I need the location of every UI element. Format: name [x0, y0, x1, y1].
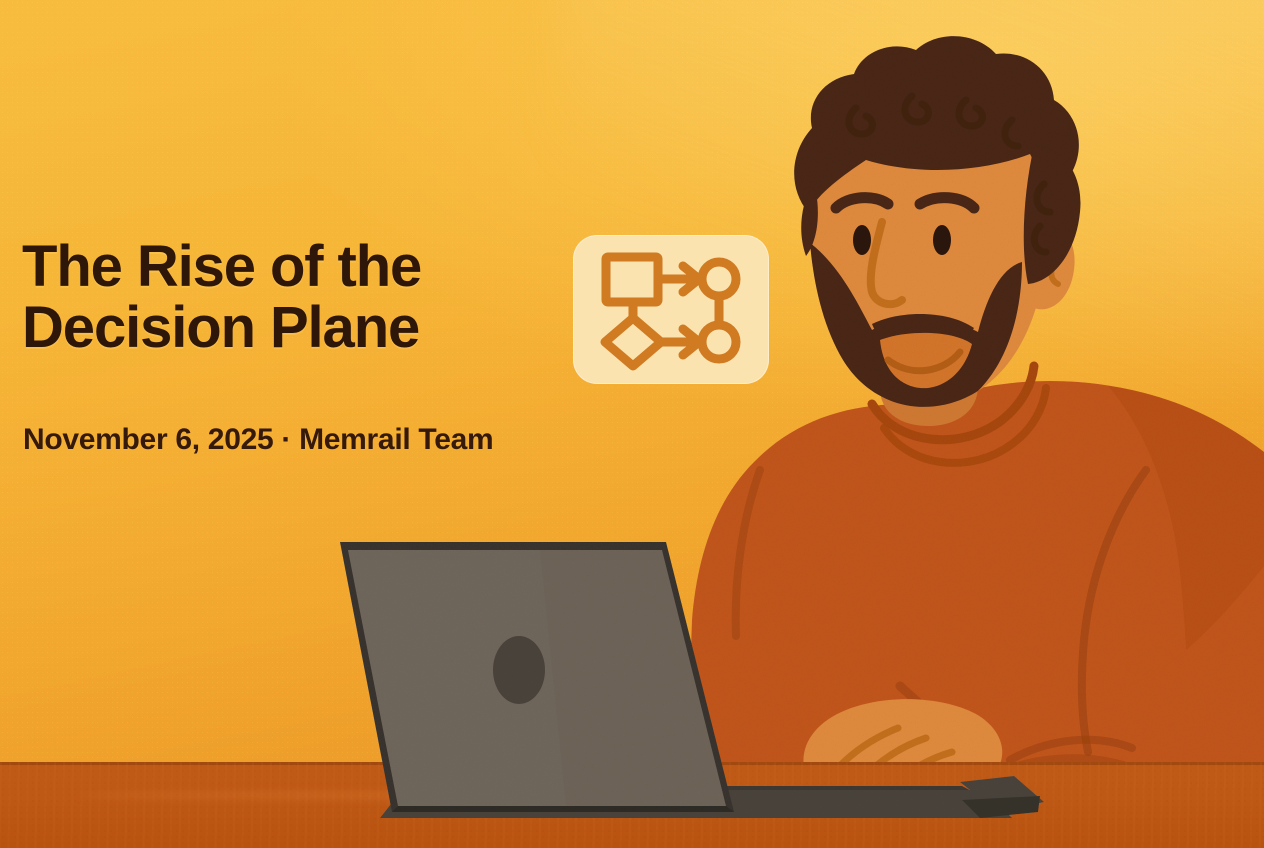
laptop-hinge [392, 806, 734, 812]
byline: November 6, 2025 · Memrail Team [23, 423, 493, 457]
hero-banner: The Rise of the Decision Plane November … [0, 0, 1264, 848]
circle-node-bottom [702, 325, 736, 359]
laptop-logo [493, 636, 545, 704]
diamond-node [605, 318, 661, 366]
square-node [606, 257, 658, 302]
decision-flow-diagram-icon [573, 235, 769, 384]
page-title: The Rise of the Decision Plane [22, 236, 582, 359]
circle-node-top [702, 262, 736, 296]
decision-flow-badge [573, 235, 769, 384]
